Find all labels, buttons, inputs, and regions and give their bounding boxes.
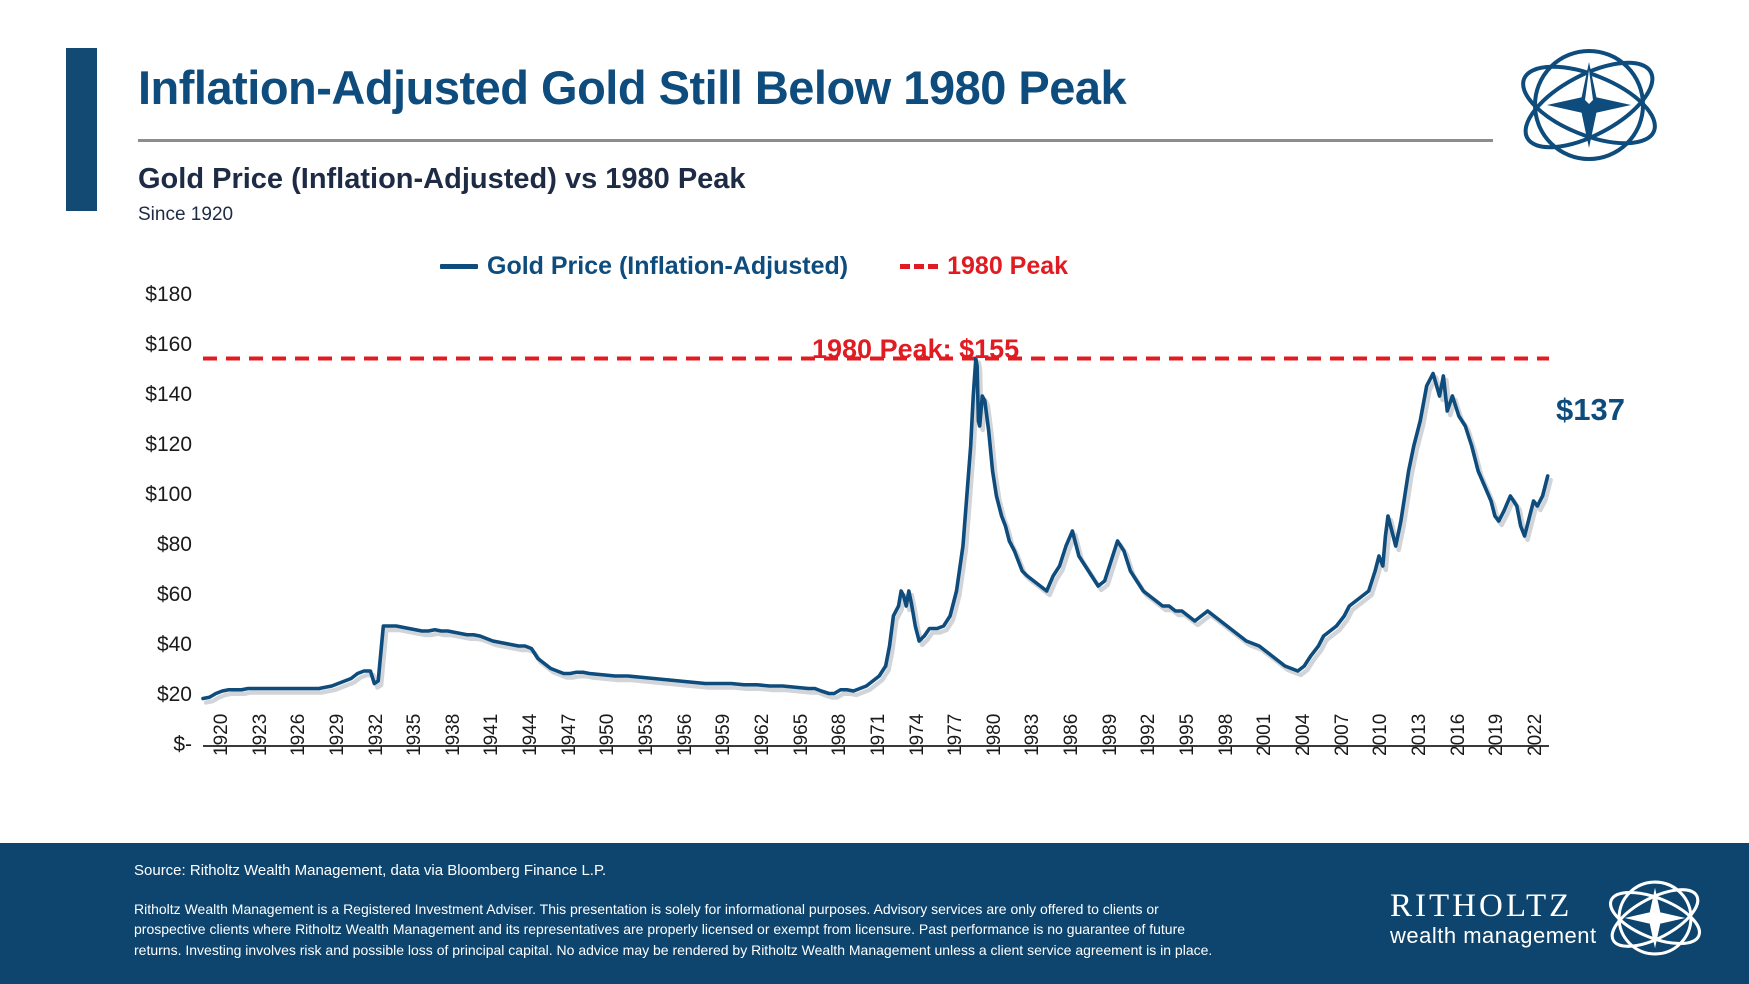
x-axis-tick-label: 1938 [443,714,465,756]
footer-logo-line1: RITHOLTZ [1390,890,1597,923]
x-axis-tick-label: 1974 [907,714,929,756]
x-axis-tick-label: 1986 [1061,714,1083,756]
footer-disclaimer-text: Ritholtz Wealth Management is a Register… [134,899,1219,960]
x-axis-tick-label: 2019 [1486,714,1508,756]
footer-bar: Source: Ritholtz Wealth Management, data… [0,843,1749,984]
x-axis-tick-label: 1965 [791,714,813,756]
footer-orbit-icon [1603,875,1707,961]
series-line-0[interactable] [203,359,1548,699]
x-axis-tick-label: 1956 [675,714,697,756]
x-axis-tick-label: 2007 [1332,714,1354,756]
x-axis-tick-label: 2022 [1525,714,1547,756]
x-axis-tick-label: 1971 [868,714,890,756]
x-axis-tick-label: 1926 [288,714,310,756]
x-axis-tick-label: 1947 [559,714,581,756]
x-axis-tick-label: 1941 [481,714,503,756]
y-axis-tick-label: $40 [120,633,192,657]
infographic-page: Inflation-Adjusted Gold Still Below 1980… [0,0,1749,984]
footer-ritholtz-logo: RITHOLTZ wealth management [1390,879,1720,957]
x-axis-tick-label: 2001 [1254,714,1276,756]
y-axis-tick-label: $140 [120,383,192,407]
chart-plot-area [0,0,1749,830]
x-axis-tick-label: 1980 [984,714,1006,756]
x-axis-tick-label: 1950 [597,714,619,756]
y-axis-tick-label: $- [120,733,192,757]
x-axis-tick-label: 1929 [327,714,349,756]
x-axis-tick-label: 1998 [1216,714,1238,756]
x-axis-tick-label: 1959 [713,714,735,756]
x-axis-tick-label: 2010 [1370,714,1392,756]
x-axis-tick-label: 2016 [1448,714,1470,756]
x-axis-tick-label: 2004 [1293,714,1315,756]
footer-logo-line2: wealth management [1390,925,1597,947]
y-axis-tick-label: $80 [120,533,192,557]
x-axis-tick-label: 1992 [1138,714,1160,756]
x-axis-tick-label: 2013 [1409,714,1431,756]
x-axis-tick-label: 1995 [1177,714,1199,756]
peak-annotation-label: 1980 Peak: $155 [812,334,1019,365]
x-axis-tick-label: 1977 [945,714,967,756]
y-axis-tick-label: $20 [120,683,192,707]
chart-canvas [0,0,1749,830]
footer-logo-wordmark: RITHOLTZ wealth management [1390,890,1597,947]
x-axis-tick-label: 1953 [636,714,658,756]
series-line-shadow [206,363,1551,703]
y-axis-tick-label: $180 [120,283,192,307]
x-axis-tick-label: 1935 [404,714,426,756]
y-axis-tick-label: $160 [120,333,192,357]
x-axis-tick-label: 1983 [1022,714,1044,756]
x-axis-tick-label: 1968 [829,714,851,756]
x-axis-tick-label: 1989 [1100,714,1122,756]
x-axis-tick-label: 1932 [366,714,388,756]
y-axis-tick-label: $120 [120,433,192,457]
x-axis-tick-label: 1920 [211,714,233,756]
y-axis-tick-label: $60 [120,583,192,607]
x-axis-tick-label: 1944 [520,714,542,756]
x-axis-tick-label: 1923 [250,714,272,756]
footer-source-text: Source: Ritholtz Wealth Management, data… [134,862,606,879]
end-value-label: $137 [1556,392,1625,428]
x-axis-tick-label: 1962 [752,714,774,756]
y-axis-tick-label: $100 [120,483,192,507]
